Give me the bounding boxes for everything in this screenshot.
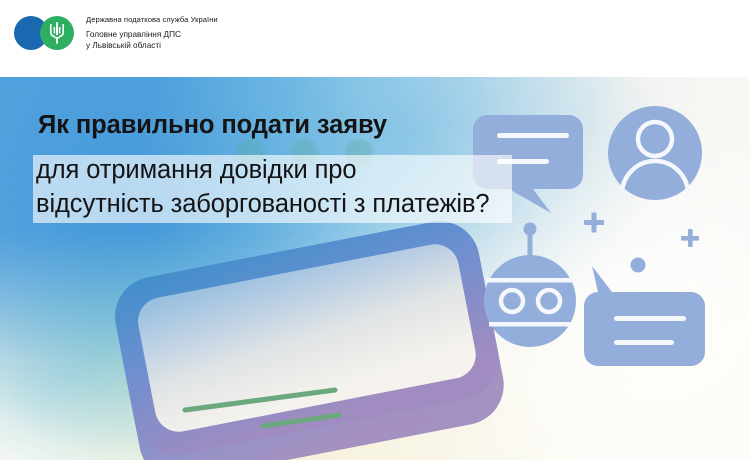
banner-page: Державна податкова служба України Головн…: [0, 0, 750, 460]
ukraine-trident-icon: [47, 21, 67, 45]
agency-title-block: Державна податкова служба України Головн…: [86, 14, 346, 51]
agency-name: Державна податкова служба України: [86, 14, 346, 25]
headline-line-1: Як правильно подати заяву: [38, 111, 387, 140]
agency-department: Головне управління ДПС у Львівській обла…: [86, 29, 346, 51]
hero-banner: Як правильно подати заяву для отримання …: [0, 77, 750, 460]
site-header: Державна податкова служба України Головн…: [0, 0, 750, 77]
agency-department-line1: Головне управління ДПС: [86, 29, 346, 40]
headline-line-3: відсутність заборгованості з платежів?: [36, 190, 490, 219]
agency-department-line2: у Львівській області: [86, 40, 346, 51]
headline-block: Як правильно подати заяву для отримання …: [0, 77, 750, 460]
agency-logo: [14, 14, 86, 52]
headline-line-2: для отримання довідки про: [36, 156, 356, 185]
